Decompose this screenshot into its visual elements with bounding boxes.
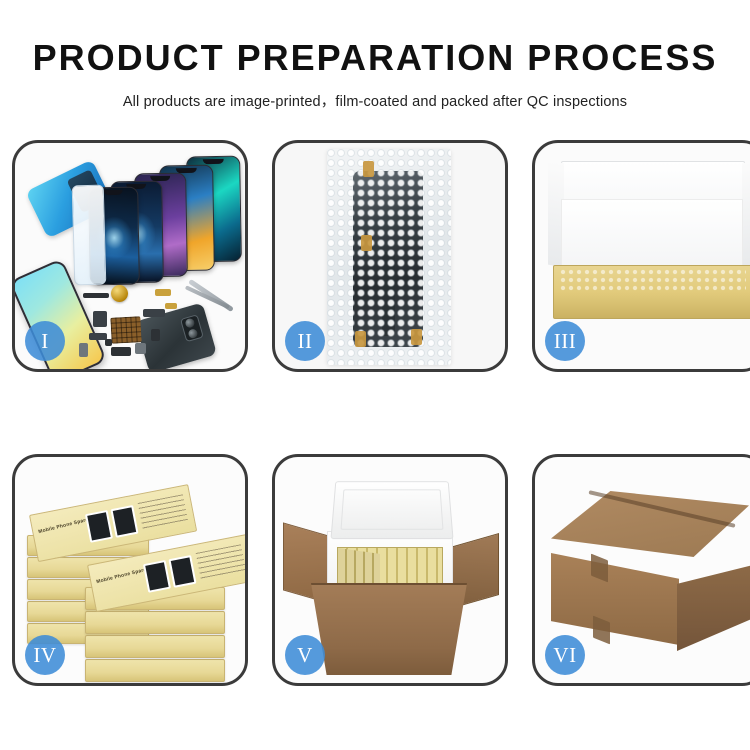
notch-icon [203, 159, 224, 164]
process-step-panel-6[interactable]: VI [532, 454, 750, 686]
page-subtitle: All products are image-printed，film-coat… [0, 90, 750, 111]
step-badge-6: VI [545, 635, 585, 675]
spare-part [135, 343, 146, 354]
adhesive-tab [361, 235, 372, 251]
process-step-panel-2[interactable]: II [272, 140, 508, 372]
box-screen-thumbnail [168, 555, 196, 588]
foam-box-lid [330, 481, 453, 539]
process-steps-grid: I II III [12, 140, 738, 686]
carton-front-face [551, 553, 679, 645]
stacked-box [85, 659, 225, 682]
step-badge-3: III [545, 321, 585, 361]
notch-icon [104, 190, 123, 195]
bubble-texture [327, 149, 451, 365]
adhesive-tab [363, 161, 374, 177]
speaker-module [111, 285, 128, 302]
box-screen-thumbnail [85, 510, 113, 543]
adhesive-tab [411, 329, 422, 345]
spare-part [83, 293, 109, 298]
step-badge-1: I [25, 321, 65, 361]
spare-part [165, 303, 177, 309]
box-screen-thumbnail [143, 560, 171, 593]
box-screen-thumbnail [110, 505, 138, 538]
step-badge-2: II [285, 321, 325, 361]
process-step-panel-3[interactable]: III [532, 140, 750, 372]
process-step-panel-4[interactable]: Mobile Phone Spare Parts Mobile Phone Sp… [12, 454, 248, 686]
carton-side-face [677, 565, 750, 651]
spare-part [105, 339, 112, 346]
tempered-glass-film [72, 185, 107, 286]
foam-lining [561, 199, 743, 269]
process-step-panel-5[interactable]: V [272, 454, 508, 686]
process-step-panel-1[interactable]: I [12, 140, 248, 372]
spare-part [155, 289, 171, 296]
box-spec-lines [138, 494, 188, 530]
shipping-carton-body [311, 583, 467, 675]
adhesive-tab [355, 331, 366, 347]
step-badge-5: V [285, 635, 325, 675]
chip-array [110, 316, 141, 344]
bubble-wrap-bag [327, 149, 451, 365]
spare-part [111, 347, 131, 356]
spare-part [151, 329, 160, 341]
stacked-box [85, 635, 225, 658]
step-badge-4: IV [25, 635, 65, 675]
page-header: PRODUCT PREPARATION PROCESS All products… [0, 0, 750, 111]
box-top-face: Mobile Phone Spare Parts [29, 486, 185, 558]
stacked-box [85, 611, 225, 634]
flex-cable [93, 311, 107, 327]
flex-cable [143, 309, 165, 317]
flex-cable [89, 333, 107, 340]
page-title: PRODUCT PREPARATION PROCESS [0, 38, 750, 78]
camera-module-icon [180, 314, 204, 342]
box-spec-lines [196, 544, 245, 580]
spare-part [79, 343, 88, 357]
yellow-box-tray [553, 265, 750, 319]
